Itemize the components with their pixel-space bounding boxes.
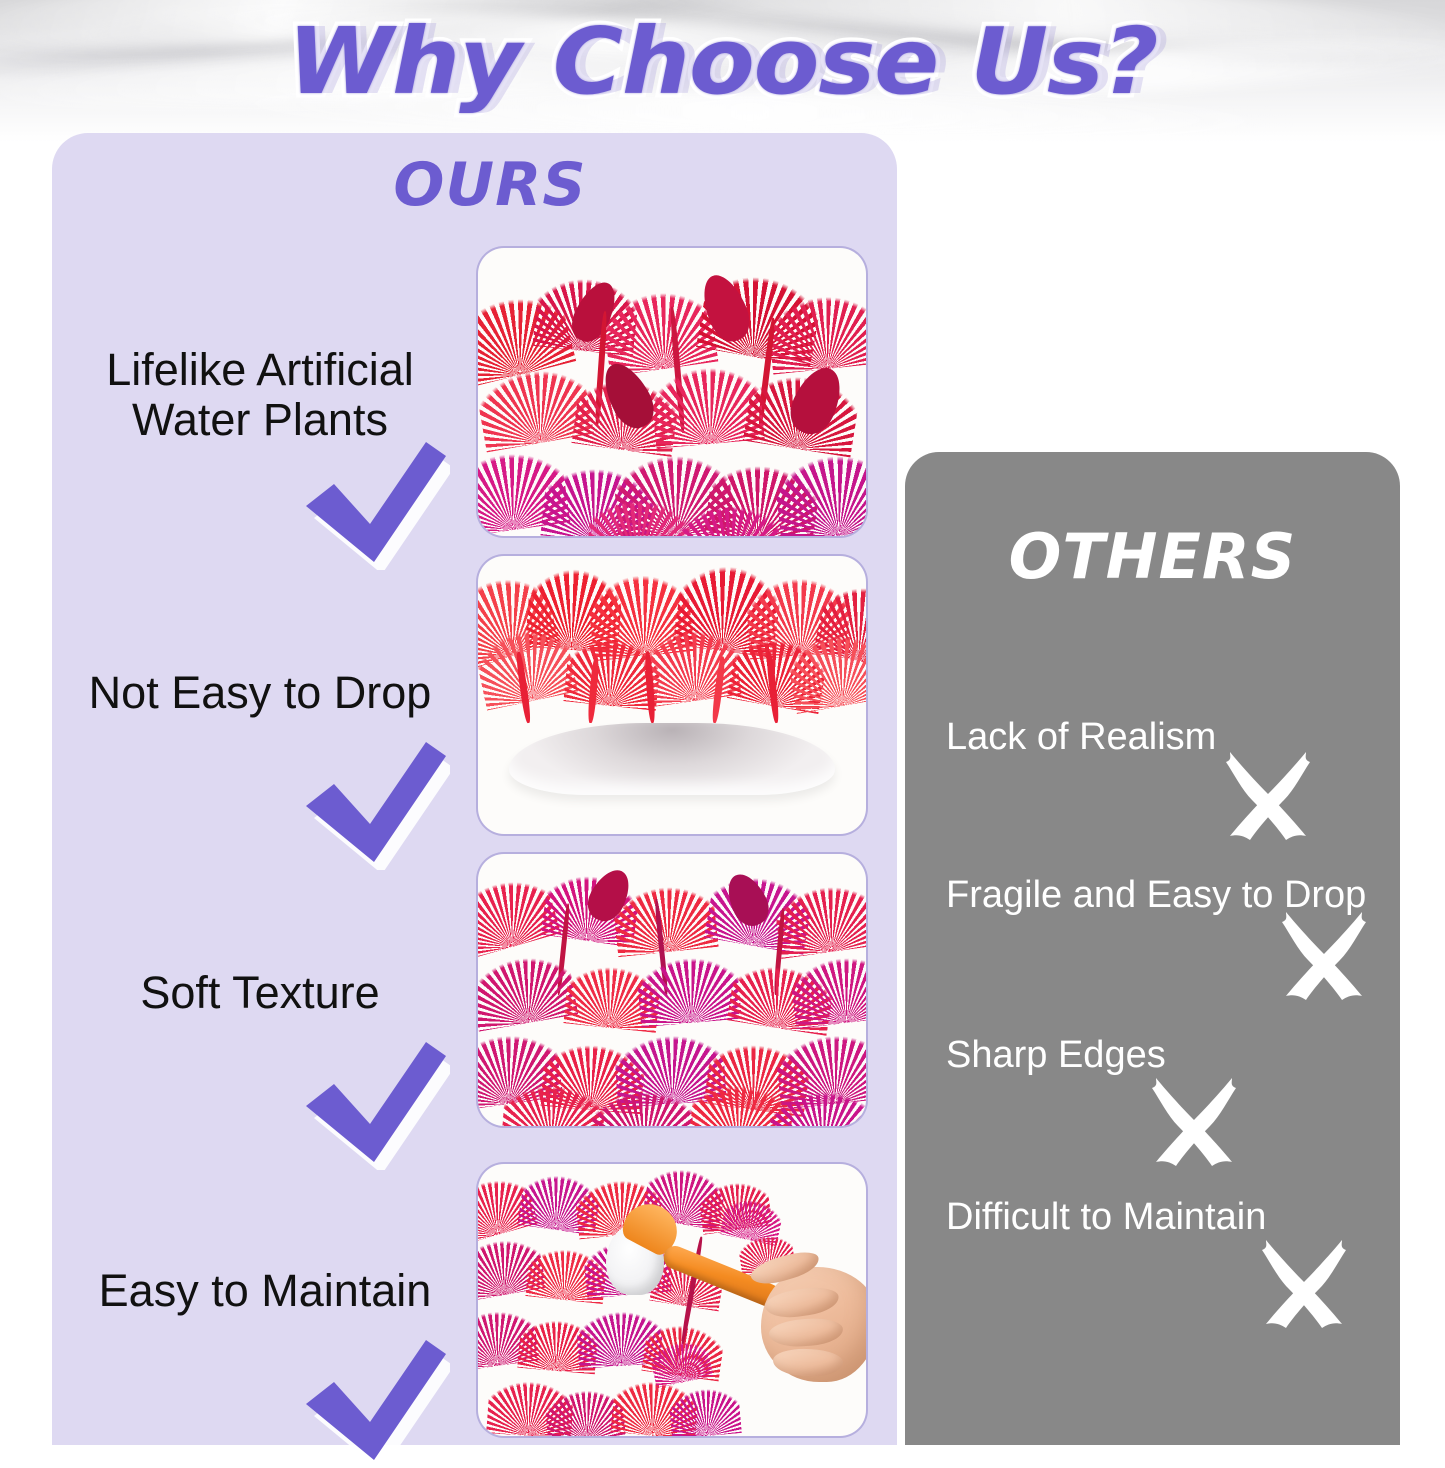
cross-icon bbox=[1148, 1074, 1240, 1166]
check-icon bbox=[300, 1338, 450, 1468]
check-icon bbox=[300, 440, 450, 570]
finger bbox=[772, 1348, 843, 1378]
page-title: Why Choose Us? bbox=[0, 8, 1445, 115]
check-icon bbox=[300, 1040, 450, 1170]
check-icon bbox=[300, 740, 450, 870]
cross-icon bbox=[1278, 908, 1370, 1000]
feature-label: Soft Texture bbox=[60, 968, 460, 1018]
product-photo-lifelike bbox=[478, 248, 866, 536]
ours-heading: OURS bbox=[310, 150, 670, 220]
product-photo-easy-maintain bbox=[478, 1164, 866, 1436]
product-photo-sturdy-base bbox=[478, 556, 866, 834]
photo-canvas bbox=[478, 854, 866, 1126]
plant-base bbox=[509, 723, 835, 795]
feature-label: Not Easy to Drop bbox=[60, 668, 460, 718]
others-heading: OTHERS bbox=[905, 520, 1400, 593]
photo-canvas bbox=[478, 556, 866, 834]
con-label: Lack of Realism bbox=[946, 716, 1216, 759]
photo-canvas bbox=[478, 248, 866, 536]
product-photo-soft-texture bbox=[478, 854, 866, 1126]
cross-icon bbox=[1222, 748, 1314, 840]
con-label: Sharp Edges bbox=[946, 1034, 1166, 1077]
con-label: Difficult to Maintain bbox=[946, 1196, 1266, 1239]
cross-icon bbox=[1258, 1236, 1350, 1328]
feature-label: Easy to Maintain bbox=[60, 1266, 470, 1316]
feature-label: Lifelike Artificial Water Plants bbox=[60, 345, 460, 446]
photo-canvas bbox=[478, 1164, 866, 1436]
